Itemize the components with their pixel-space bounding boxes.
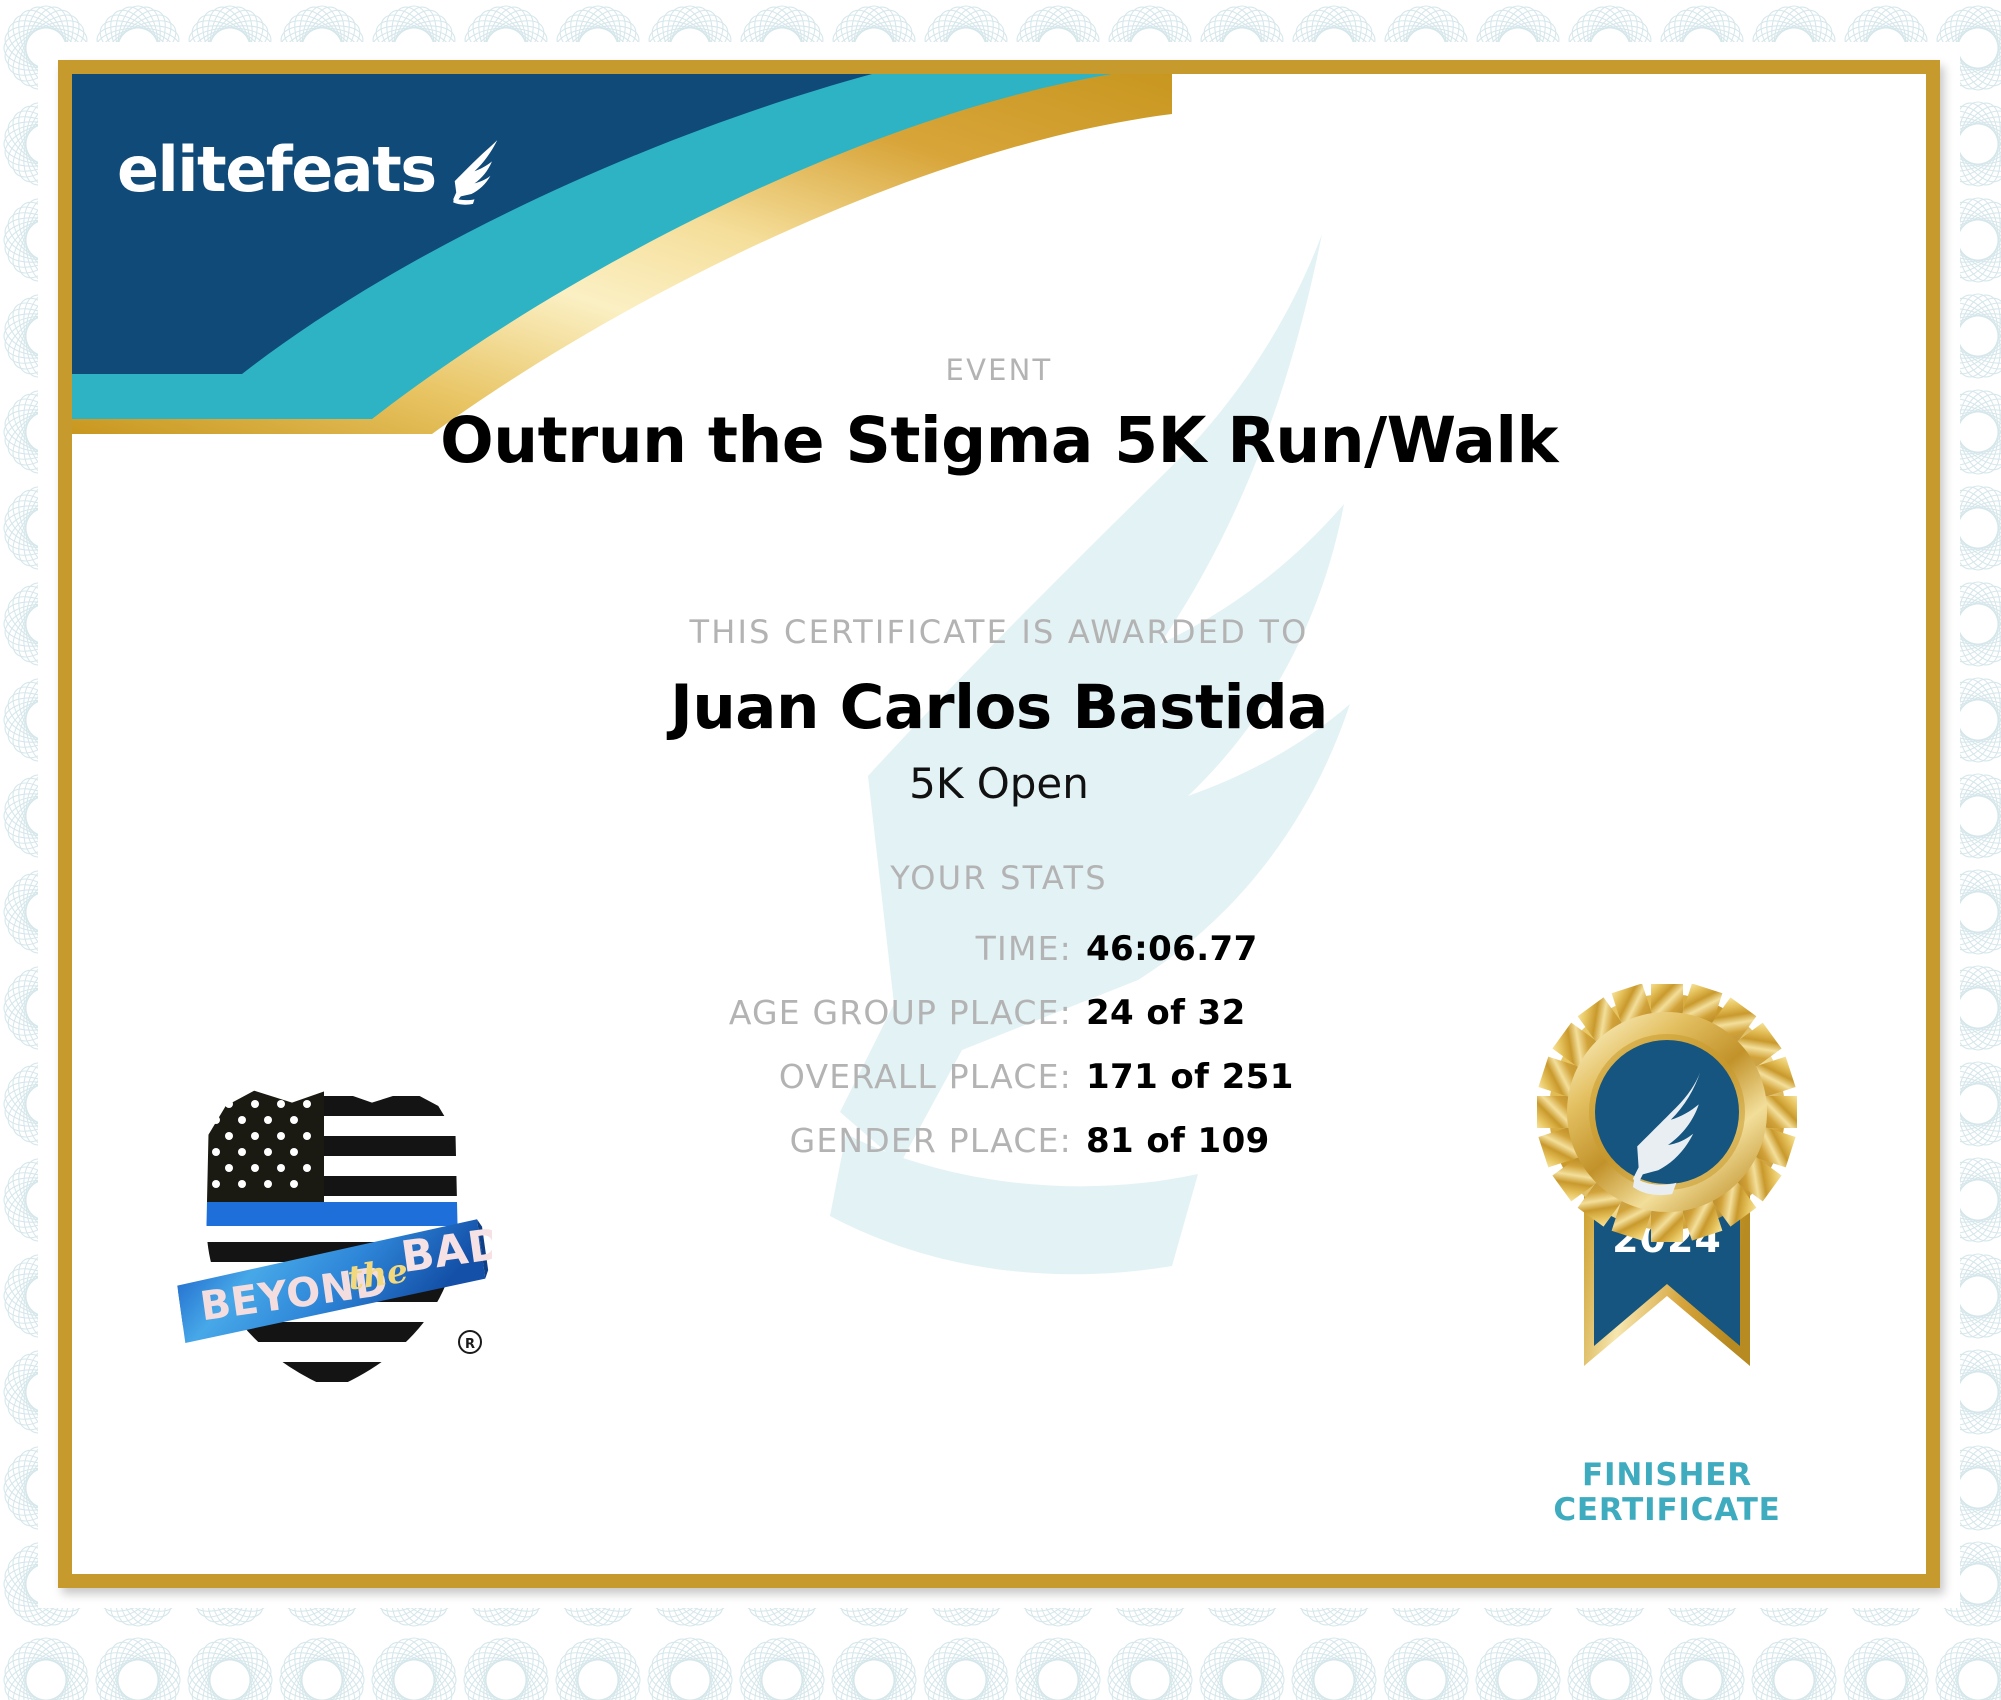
stat-label-age-group-place: AGE GROUP PLACE: [72,993,1072,1032]
event-label: EVENT [72,353,1926,387]
stat-row-time: TIME: 46:06.77 [72,929,1926,969]
svg-text:R: R [465,1337,475,1352]
gold-award-seal-icon: 2024 [1522,984,1812,1464]
brand-wordmark: elitefeats [117,139,436,201]
sponsor-word-the: the [345,1251,410,1298]
certificate-body: elitefeats EVENT Outrun the Stigm [72,74,1926,1574]
division-name: 5K Open [72,759,1926,808]
recipient-name: Juan Carlos Bastida [72,672,1926,743]
stat-value-age-group-place: 24 of 32 [1086,993,1246,1033]
winged-foot-icon [438,134,514,210]
stat-value-overall-place: 171 of 251 [1086,1057,1294,1097]
stat-label-time: TIME: [72,929,1072,968]
seal-caption: FINISHER CERTIFICATE [1502,1458,1832,1527]
awarded-to-label: THIS CERTIFICATE IS AWARDED TO [72,613,1926,651]
your-stats-label: YOUR STATS [72,859,1926,897]
elitefeats-logo: elitefeats [117,130,514,210]
seal-caption-line-1: FINISHER [1502,1458,1832,1493]
stat-value-gender-place: 81 of 109 [1086,1121,1270,1161]
beyond-the-badge-shield-icon: BEYOND the BADGE R [172,1074,492,1404]
event-name: Outrun the Stigma 5K Run/Walk [72,404,1926,477]
certificate-gold-frame: elitefeats EVENT Outrun the Stigm [58,60,1940,1588]
registered-trademark-icon: R [459,1331,481,1353]
finisher-seal-block: 2024 [1502,984,1832,1527]
seal-caption-line-2: CERTIFICATE [1502,1493,1832,1528]
stat-value-time: 46:06.77 [1086,929,1258,969]
certificate-page: elitefeats EVENT Outrun the Stigm [0,0,2001,1700]
